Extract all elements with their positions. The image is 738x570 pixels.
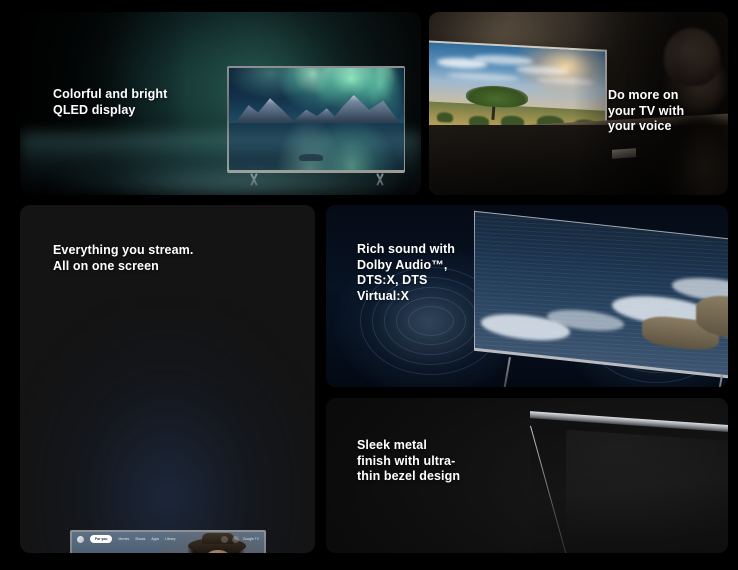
nav-item-library[interactable]: Library (165, 537, 175, 541)
search-icon[interactable] (221, 536, 228, 543)
panel-everything-you-stream[interactable]: Everything you stream. All on one screen… (20, 205, 315, 553)
avatar[interactable] (77, 536, 84, 543)
panel-sleek-metal-finish[interactable]: Sleek metal finish with ultra- thin beze… (326, 398, 728, 553)
gear-icon[interactable] (232, 536, 239, 543)
nav-item-shows[interactable]: Shows (135, 537, 145, 541)
google-tv-home-screen[interactable]: For you Movies Shows Apps Library Google… (72, 532, 264, 553)
nav-item-movies[interactable]: Movies (118, 537, 129, 541)
feature-grid: Colorful and bright QLED display (0, 0, 738, 570)
panel-do-more-with-voice[interactable]: Do more on your TV with your voice (429, 12, 728, 195)
gtv-nav-bar[interactable]: For you Movies Shows Apps Library Google… (72, 532, 264, 546)
headline-dolby: Rich sound with Dolby Audio™, DTS:X, DTS… (357, 242, 455, 304)
headline-stream: Everything you stream. All on one screen (53, 243, 193, 274)
qled-floor-highlight (52, 158, 397, 191)
headline-qled: Colorful and bright QLED display (53, 87, 167, 118)
headline-voice: Do more on your TV with your voice (608, 88, 684, 135)
stream-ambient-glow (26, 316, 309, 553)
nav-item-apps[interactable]: Apps (151, 537, 159, 541)
gtv-nav-right: Google TV (221, 536, 259, 543)
sound-ripple-ring (408, 306, 454, 336)
metal-sheen (566, 430, 728, 553)
tv-google-tv: For you Movies Shows Apps Library Google… (70, 530, 266, 553)
panel-rich-sound-dolby-audio[interactable]: Rich sound with Dolby Audio™, DTS:X, DTS… (326, 205, 728, 387)
headline-sleek: Sleek metal finish with ultra- thin beze… (357, 438, 460, 485)
panel-colorful-bright-qled-display[interactable]: Colorful and bright QLED display (20, 12, 421, 195)
nav-item-for-you[interactable]: For you (90, 535, 112, 542)
gtv-brand: Google TV (243, 537, 259, 541)
